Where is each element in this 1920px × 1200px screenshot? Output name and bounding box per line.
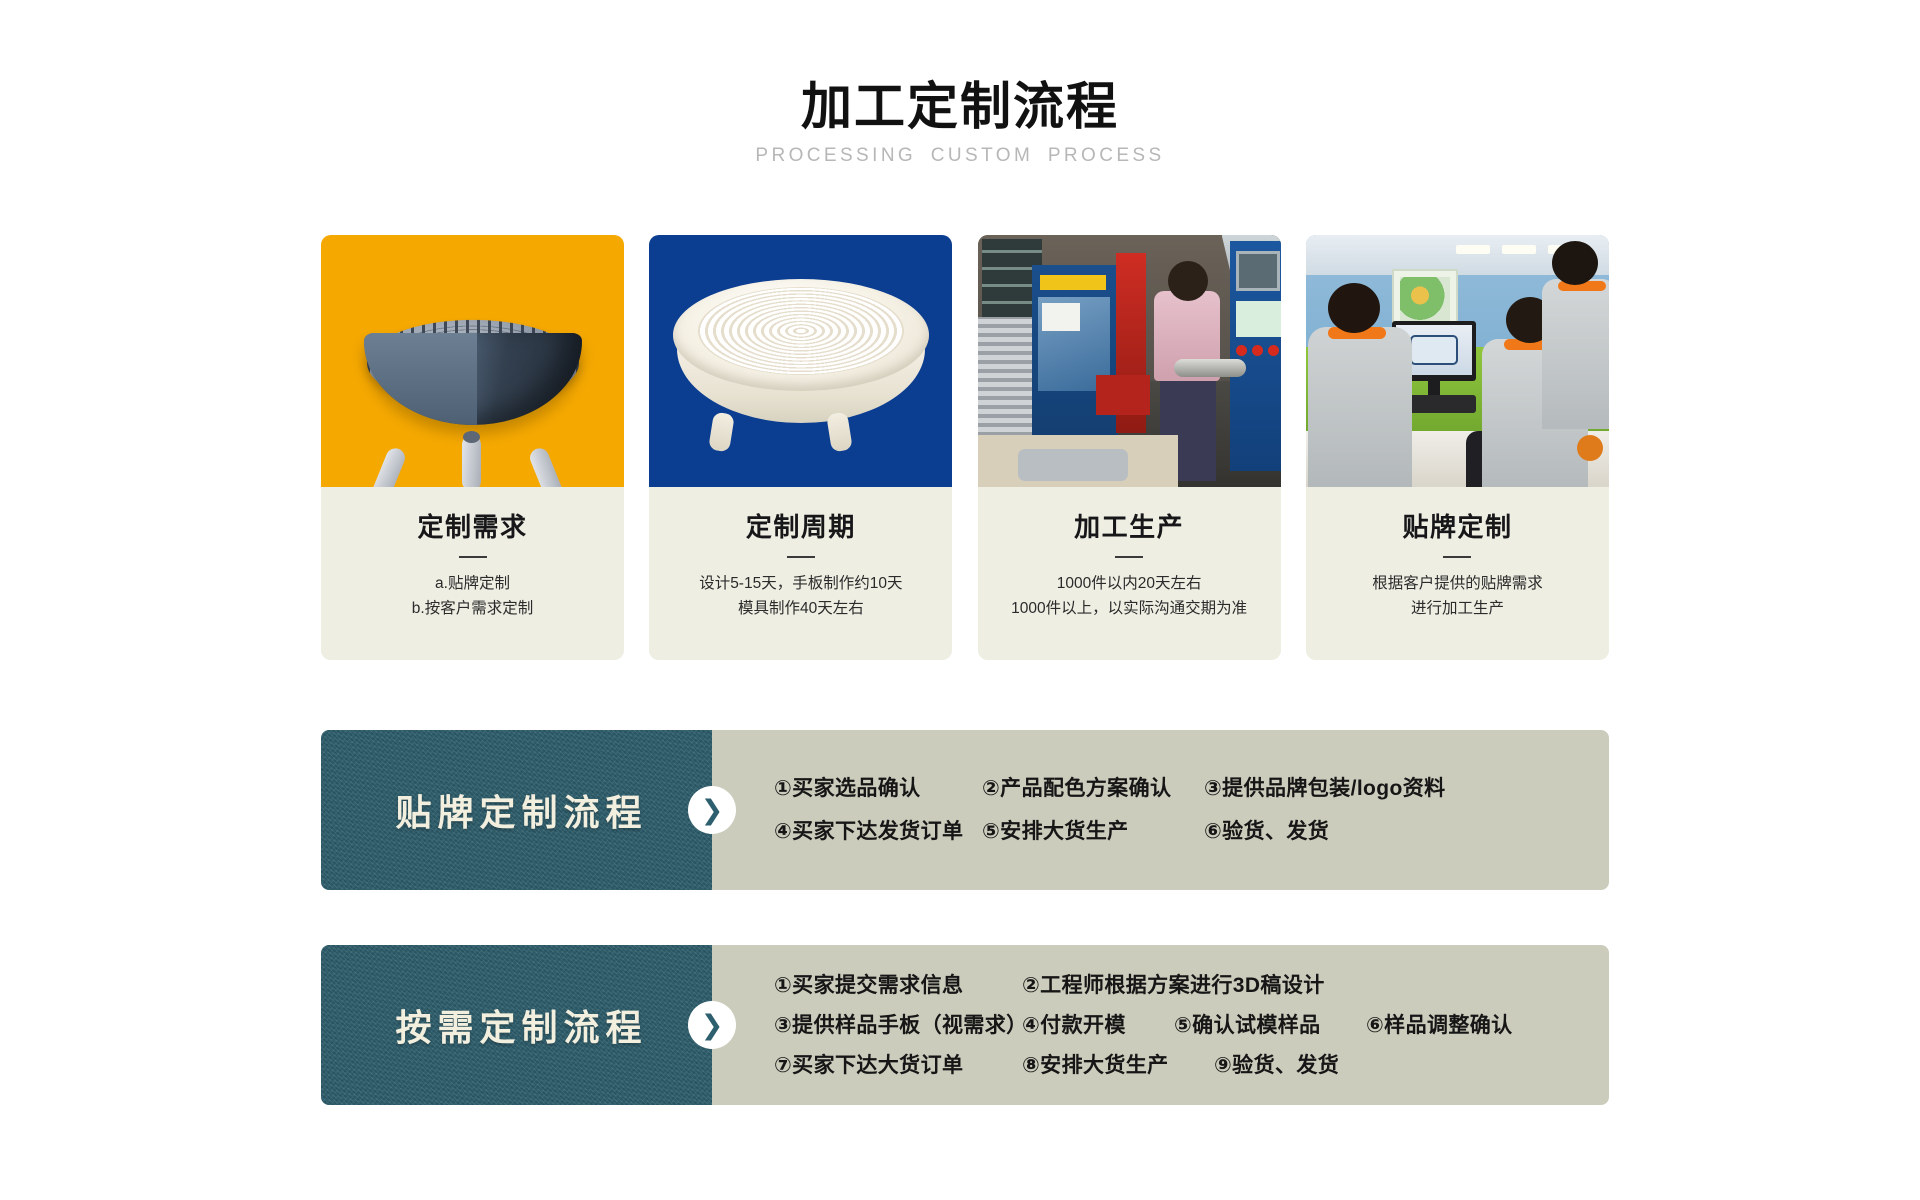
step-item: ④买家下达发货订单 [774, 821, 982, 842]
process-card-description: 根据客户提供的贴牌需求 进行加工生产 [1306, 571, 1609, 621]
process-card-custom-cycle[interactable]: 定制周期 设计5-15天，手板制作约10天 模具制作40天左右 [649, 235, 952, 660]
step-item: ③提供品牌包装/logo资料 [1204, 778, 1446, 799]
banner-title: 贴牌定制流程 [385, 784, 647, 836]
process-card-production[interactable]: 加工生产 1000件以内20天左右 1000件以上，以实际沟通交期为准 [978, 235, 1281, 660]
banner-steps-panel: ①买家选品确认 ②产品配色方案确认 ③提供品牌包装/logo资料 ④买家下达发货… [712, 730, 1609, 890]
keyboard-icon [1404, 395, 1476, 413]
step-item: ⑤确认试模样品 [1174, 1015, 1366, 1036]
grill-bowl-part-icon [364, 333, 582, 425]
process-card-description: a.贴牌定制 b.按客户需求定制 [321, 571, 624, 621]
process-card-custom-requirement[interactable]: 定制需求 a.贴牌定制 b.按客户需求定制 [321, 235, 624, 660]
process-cards-row: 定制需求 a.贴牌定制 b.按客户需求定制 定制周期 设 [321, 235, 1609, 660]
step-item: ④付款开模 [1022, 1015, 1174, 1036]
step-row: ⑦买家下达大货订单 ⑧安排大货生产 ⑨验货、发货 [774, 1045, 1609, 1085]
process-card-title: 加工生产 [978, 512, 1281, 543]
control-button-icon [1236, 345, 1247, 356]
process-card-body: 定制周期 设计5-15天，手板制作约10天 模具制作40天左右 [649, 487, 952, 660]
step-item: ⑧安排大货生产 [1022, 1055, 1214, 1076]
control-screen-icon [1236, 251, 1280, 291]
step-row: ①买家提交需求信息 ②工程师根据方案进行3D稿设计 [774, 965, 1609, 1005]
title-divider [787, 556, 815, 558]
ceiling-light-icon [1456, 245, 1490, 254]
description-line: 进行加工生产 [1316, 596, 1599, 621]
sample-foot-left-icon [708, 412, 735, 453]
description-line: a.贴牌定制 [331, 571, 614, 596]
person-body [1542, 279, 1609, 429]
description-line: 根据客户提供的贴牌需求 [1316, 571, 1599, 596]
step-item: ⑨验货、发货 [1214, 1055, 1339, 1076]
exploded-grill-render-icon [321, 235, 624, 487]
warning-sticker-icon [1042, 303, 1080, 331]
machine-pipe-icon [1174, 359, 1246, 377]
banner-title: 按需定制流程 [385, 999, 647, 1051]
banner-label-panel: 贴牌定制流程 ❯ [321, 730, 712, 890]
process-card-title: 定制需求 [321, 512, 624, 543]
step-row: ④买家下达发货订单 ⑤安排大货生产 ⑥验货、发货 [774, 810, 1609, 853]
process-card-title: 定制周期 [649, 512, 952, 543]
sample-foot-right-icon [826, 412, 853, 453]
process-card-description: 1000件以内20天左右 1000件以上，以实际沟通交期为准 [978, 571, 1281, 621]
description-line: 设计5-15天，手板制作约10天 [659, 571, 942, 596]
control-button-icon [1252, 345, 1263, 356]
chevron-right-icon[interactable]: ❯ [688, 1001, 736, 1049]
banner-steps-panel: ①买家提交需求信息 ②工程师根据方案进行3D稿设计 ③提供样品手板（视需求） ④… [712, 945, 1609, 1105]
description-line: b.按客户需求定制 [331, 596, 614, 621]
office-cad-designers-photo-icon [1306, 235, 1609, 487]
description-line: 1000件以上，以实际沟通交期为准 [988, 596, 1271, 621]
banner-label-panel: 按需定制流程 ❯ [321, 945, 712, 1105]
step-item: ③提供样品手板（视需求） [774, 1015, 1022, 1036]
step-item: ①买家选品确认 [774, 778, 982, 799]
title-divider [459, 556, 487, 558]
process-card-oem-branding[interactable]: 贴牌定制 根据客户提供的贴牌需求 进行加工生产 [1306, 235, 1609, 660]
process-card-body: 贴牌定制 根据客户提供的贴牌需求 进行加工生产 [1306, 487, 1609, 660]
step-item: ⑥验货、发货 [1204, 821, 1329, 842]
control-display-icon [1236, 301, 1281, 337]
process-card-body: 定制需求 a.贴牌定制 b.按客户需求定制 [321, 487, 624, 660]
machine-warning-label [1040, 275, 1106, 290]
worker-head [1168, 261, 1208, 301]
page-subtitle: PROCESSING CUSTOM PROCESS [0, 145, 1920, 167]
person-head [1552, 241, 1598, 285]
grill-leg-left-icon [369, 445, 408, 487]
watermark-logo-icon [1577, 435, 1603, 461]
grill-leg-right-icon [527, 445, 566, 487]
page-title: 加工定制流程 [0, 78, 1920, 135]
chevron-right-icon[interactable]: ❯ [688, 786, 736, 834]
process-card-description: 设计5-15天，手板制作约10天 模具制作40天左右 [649, 571, 952, 621]
white-prototype-sample-icon [649, 235, 952, 487]
step-row: ③提供样品手板（视需求） ④付款开模 ⑤确认试模样品 ⑥样品调整确认 [774, 1005, 1609, 1045]
red-press-base [1096, 375, 1150, 415]
ceiling-light-icon [1502, 245, 1536, 254]
title-divider [1115, 556, 1143, 558]
title-divider [1443, 556, 1471, 558]
step-item: ②产品配色方案确认 [982, 778, 1204, 799]
control-button-icon [1268, 345, 1279, 356]
description-line: 模具制作40天左右 [659, 596, 942, 621]
person-body [1308, 327, 1412, 487]
cad-drawing-icon [1410, 335, 1458, 365]
monitor-stand [1428, 381, 1440, 395]
on-demand-process-banner: 按需定制流程 ❯ ①买家提交需求信息 ②工程师根据方案进行3D稿设计 ③提供样品… [321, 945, 1609, 1105]
page-header: 加工定制流程 PROCESSING CUSTOM PROCESS [0, 78, 1920, 167]
process-card-title: 贴牌定制 [1306, 512, 1609, 543]
step-item: ⑤安排大货生产 [982, 821, 1204, 842]
grill-leg-center-icon [462, 435, 481, 487]
process-page: 加工定制流程 PROCESSING CUSTOM PROCESS 定制需求 a.… [0, 0, 1920, 1200]
step-item: ②工程师根据方案进行3D稿设计 [1022, 975, 1325, 996]
process-card-body: 加工生产 1000件以内20天左右 1000件以上，以实际沟通交期为准 [978, 487, 1281, 660]
step-item: ⑥样品调整确认 [1366, 1015, 1513, 1036]
sample-spiral-pattern-icon [698, 287, 904, 375]
oem-process-banner: 贴牌定制流程 ❯ ①买家选品确认 ②产品配色方案确认 ③提供品牌包装/logo资… [321, 730, 1609, 890]
person-head [1328, 283, 1380, 333]
factory-injection-machine-photo-icon [978, 235, 1281, 487]
description-line: 1000件以内20天左右 [988, 571, 1271, 596]
step-row: ①买家选品确认 ②产品配色方案确认 ③提供品牌包装/logo资料 [774, 767, 1609, 810]
molded-part-icon [1018, 449, 1128, 481]
step-item: ①买家提交需求信息 [774, 975, 1022, 996]
step-item: ⑦买家下达大货订单 [774, 1055, 1022, 1076]
